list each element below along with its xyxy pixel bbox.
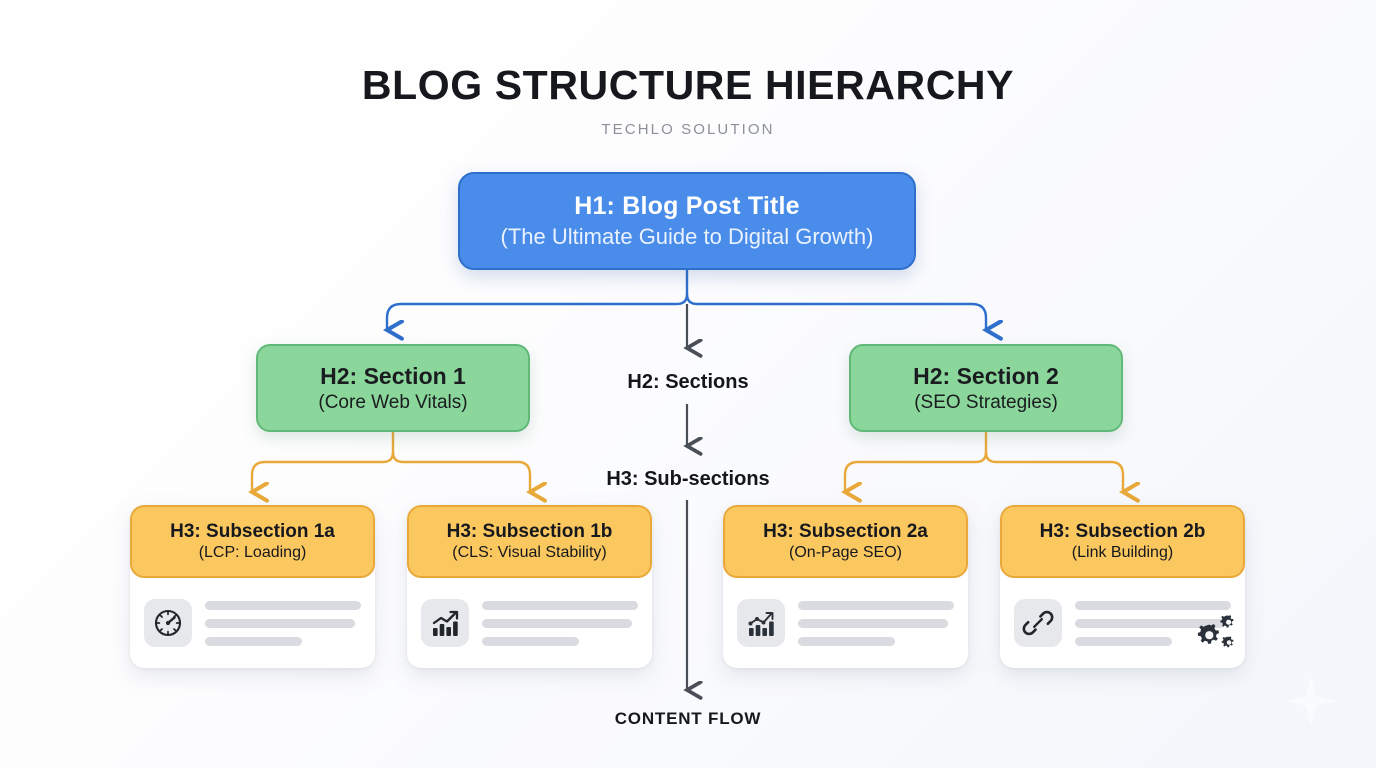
card-subsection-2a-line2: (On-Page SEO) (789, 544, 902, 562)
gauge-icon (152, 607, 184, 639)
card-subsection-2a-header: H3: Subsection 2a (On-Page SEO) (723, 505, 968, 578)
placeholder-line (1075, 601, 1231, 610)
node-h2-section-1-line2: (Core Web Vitals) (318, 392, 467, 414)
card-subsection-2a-body (723, 578, 968, 668)
placeholder-line (798, 601, 954, 610)
card-subsection-2b-line1: H3: Subsection 2b (1040, 521, 1206, 543)
card-subsection-2b-header: H3: Subsection 2b (Link Building) (1000, 505, 1245, 578)
card-subsection-1b-line1: H3: Subsection 1b (447, 521, 613, 543)
label-h3-subsections: H3: Sub-sections (528, 468, 848, 491)
card-subsection-1a[interactable]: H3: Subsection 1a (LCP: Loading) (130, 505, 375, 668)
node-h1-line1: H1: Blog Post Title (574, 192, 800, 221)
card-subsection-2a[interactable]: H3: Subsection 2a (On-Page SEO) (723, 505, 968, 668)
card-subsection-2b-body (1000, 578, 1245, 668)
node-h2-section-2-line1: H2: Section 2 (913, 363, 1059, 390)
card-subsection-2b[interactable]: H3: Subsection 2b (Link Building) (1000, 505, 1245, 668)
node-h1-line2: (The Ultimate Guide to Digital Growth) (501, 224, 874, 250)
label-content-flow: CONTENT FLOW (528, 709, 848, 729)
placeholder-line (205, 619, 355, 628)
node-h2-section-2-line2: (SEO Strategies) (914, 392, 1058, 414)
placeholder-line (1075, 637, 1172, 646)
card-subsection-1b-line2: (CLS: Visual Stability) (452, 544, 606, 562)
placeholder-line (205, 601, 361, 610)
chart-up-icon (429, 607, 461, 639)
card-subsection-1b[interactable]: H3: Subsection 1b (CLS: Visual Stability… (407, 505, 652, 668)
placeholder-line (482, 601, 638, 610)
card-subsection-1b-body (407, 578, 652, 668)
placeholder-lines (798, 601, 954, 646)
icon-tile (421, 599, 469, 647)
icon-tile (1014, 599, 1062, 647)
card-subsection-1a-body (130, 578, 375, 668)
icon-tile (144, 599, 192, 647)
diagram-canvas: BLOG STRUCTURE HIERARCHY TECHLO SOLUTION (0, 0, 1376, 768)
placeholder-lines (482, 601, 638, 646)
link-icon (1022, 607, 1054, 639)
placeholder-line (482, 619, 632, 628)
card-subsection-1a-line1: H3: Subsection 1a (170, 521, 335, 543)
connector-h2-left-to-h3 (252, 432, 530, 492)
line-chart-icon (745, 607, 777, 639)
placeholder-line (482, 637, 579, 646)
card-subsection-2b-line2: (Link Building) (1072, 544, 1173, 562)
placeholder-line (798, 637, 895, 646)
card-subsection-1a-line2: (LCP: Loading) (199, 544, 307, 562)
card-subsection-2a-line1: H3: Subsection 2a (763, 521, 928, 543)
node-h1-blog-post-title[interactable]: H1: Blog Post Title (The Ultimate Guide … (458, 172, 916, 270)
gears-icon (1193, 612, 1239, 652)
placeholder-line (798, 619, 948, 628)
placeholder-lines (205, 601, 361, 646)
label-h2-sections: H2: Sections (528, 371, 848, 394)
node-h2-section-1[interactable]: H2: Section 1 (Core Web Vitals) (256, 344, 530, 432)
placeholder-lines (1075, 601, 1231, 646)
node-h2-section-1-line1: H2: Section 1 (320, 363, 466, 390)
placeholder-line (205, 637, 302, 646)
connector-h2-right-to-h3 (845, 432, 1123, 492)
card-subsection-1a-header: H3: Subsection 1a (LCP: Loading) (130, 505, 375, 578)
node-h2-section-2[interactable]: H2: Section 2 (SEO Strategies) (849, 344, 1123, 432)
card-subsection-1b-header: H3: Subsection 1b (CLS: Visual Stability… (407, 505, 652, 578)
icon-tile (737, 599, 785, 647)
